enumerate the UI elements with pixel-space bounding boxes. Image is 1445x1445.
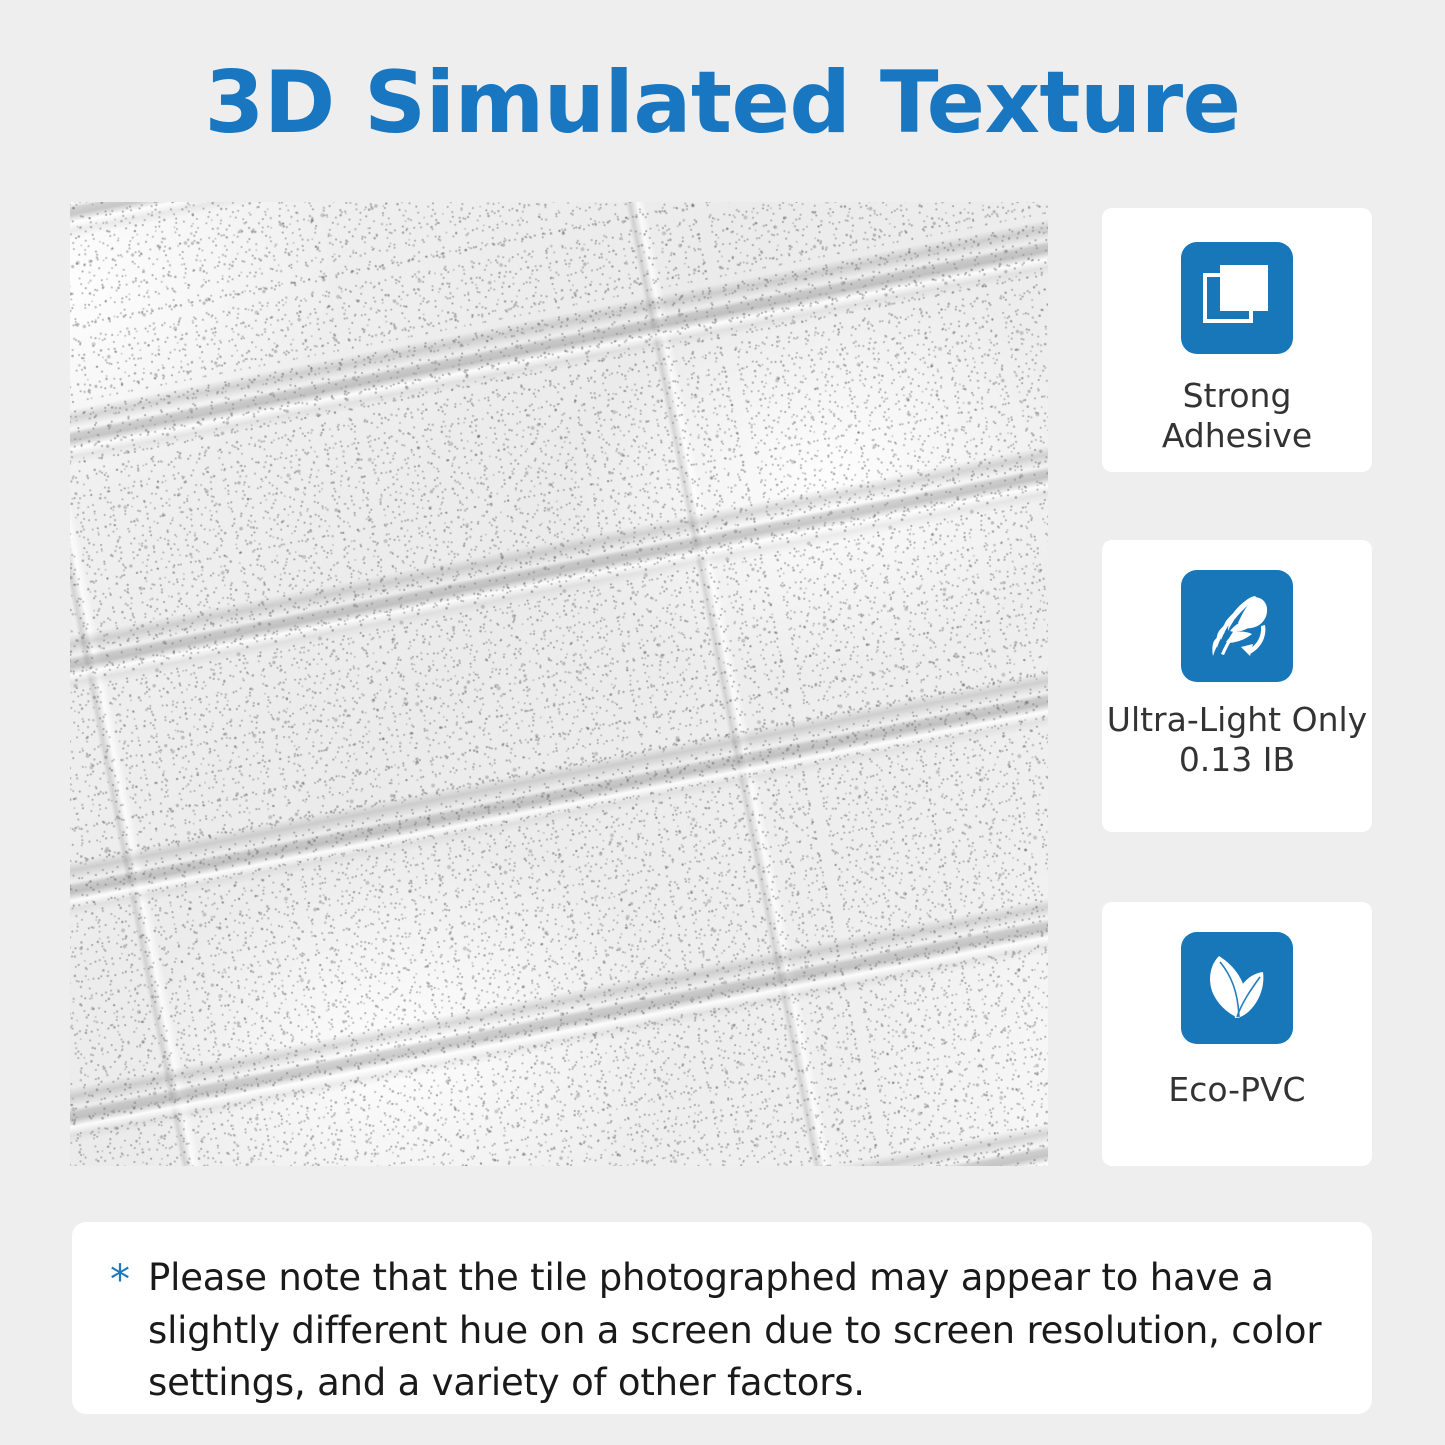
disclaimer-text: Please note that the tile photographed m… — [148, 1252, 1332, 1410]
icon-tile — [1181, 242, 1293, 354]
feather-arrow-icon — [1197, 584, 1277, 669]
feature-label: Ultra-Light Only 0.13 IB — [1103, 700, 1371, 781]
brick-texture-photo — [70, 202, 1048, 1166]
feature-label: Eco-PVC — [1164, 1070, 1309, 1110]
asterisk-icon: * — [110, 1260, 130, 1300]
feature-card-strong-adhesive[interactable]: Strong Adhesive — [1102, 208, 1372, 472]
disclaimer-note-card: * Please note that the tile photographed… — [72, 1222, 1372, 1414]
leaves-icon — [1197, 946, 1277, 1031]
icon-tile — [1181, 570, 1293, 682]
feature-label: Strong Adhesive — [1102, 376, 1372, 457]
feature-card-ultra-light[interactable]: Ultra-Light Only 0.13 IB — [1102, 540, 1372, 832]
icon-tile — [1181, 932, 1293, 1044]
stone-speckle-coarse-layer — [70, 202, 1048, 1166]
page-title: 3D Simulated Texture — [0, 58, 1445, 148]
feature-card-eco-pvc[interactable]: Eco-PVC — [1102, 902, 1372, 1166]
overlapping-squares-icon — [1200, 259, 1274, 338]
product-infographic-page: 3D Simulated Texture Strong Adhesive — [0, 0, 1445, 1445]
